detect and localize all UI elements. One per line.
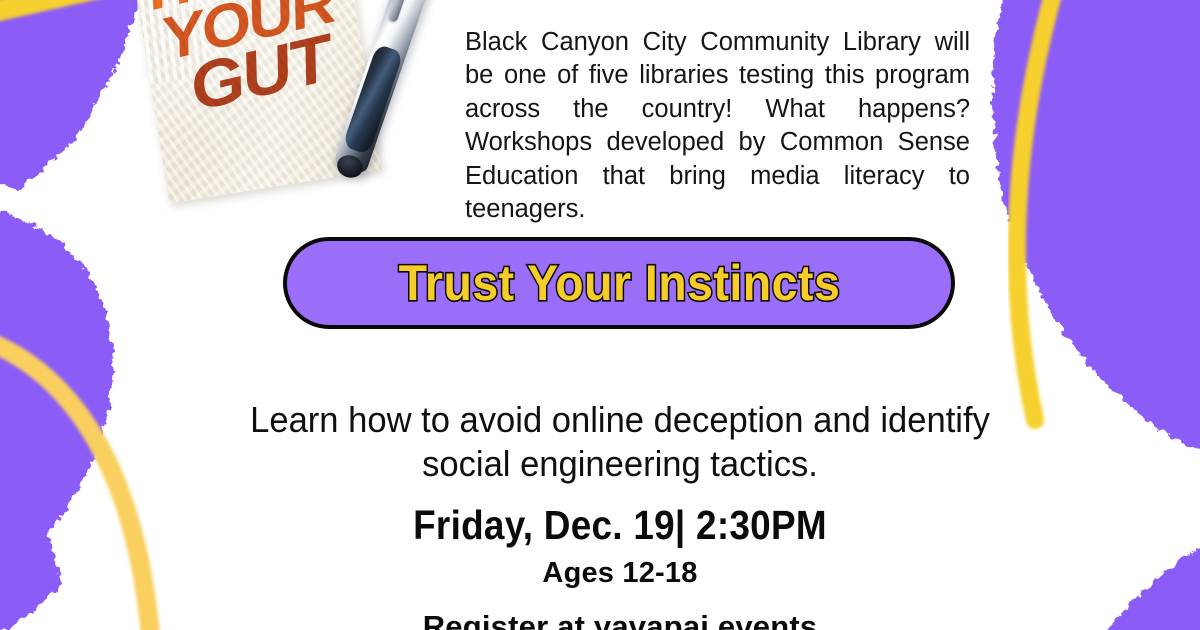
napkin-slogan: TRUST YOUR GUT bbox=[133, 0, 363, 123]
blob-top-left bbox=[0, 0, 150, 190]
event-flyer: TRUST YOUR GUT Black Canyon City Communi… bbox=[0, 0, 1200, 630]
age-range: Ages 12-18 bbox=[230, 557, 1010, 590]
subheadline: Learn how to avoid online deception and … bbox=[246, 398, 995, 486]
registration-line: Register at yavapai.events bbox=[230, 609, 1010, 630]
pen-clip bbox=[388, 0, 415, 23]
description-paragraph: Black Canyon City Community Library will… bbox=[465, 26, 970, 227]
blob-mid-left bbox=[0, 205, 113, 566]
headline-title: Trust Your Instincts bbox=[398, 254, 840, 312]
pen-tip bbox=[334, 152, 366, 181]
napkin-photo: TRUST YOUR GUT bbox=[140, 0, 490, 213]
headline-banner: Trust Your Instincts bbox=[283, 237, 955, 329]
blob-bottom-right bbox=[1085, 520, 1200, 630]
blob-right bbox=[993, 0, 1200, 470]
yellow-arc-left bbox=[0, 330, 150, 630]
yellow-ribbon-right bbox=[1017, 0, 1060, 420]
event-datetime: Friday, Dec. 19| 2:30PM bbox=[269, 502, 971, 549]
blob-lower-left bbox=[0, 430, 62, 630]
yellow-stripe-top-left bbox=[0, 0, 157, 30]
